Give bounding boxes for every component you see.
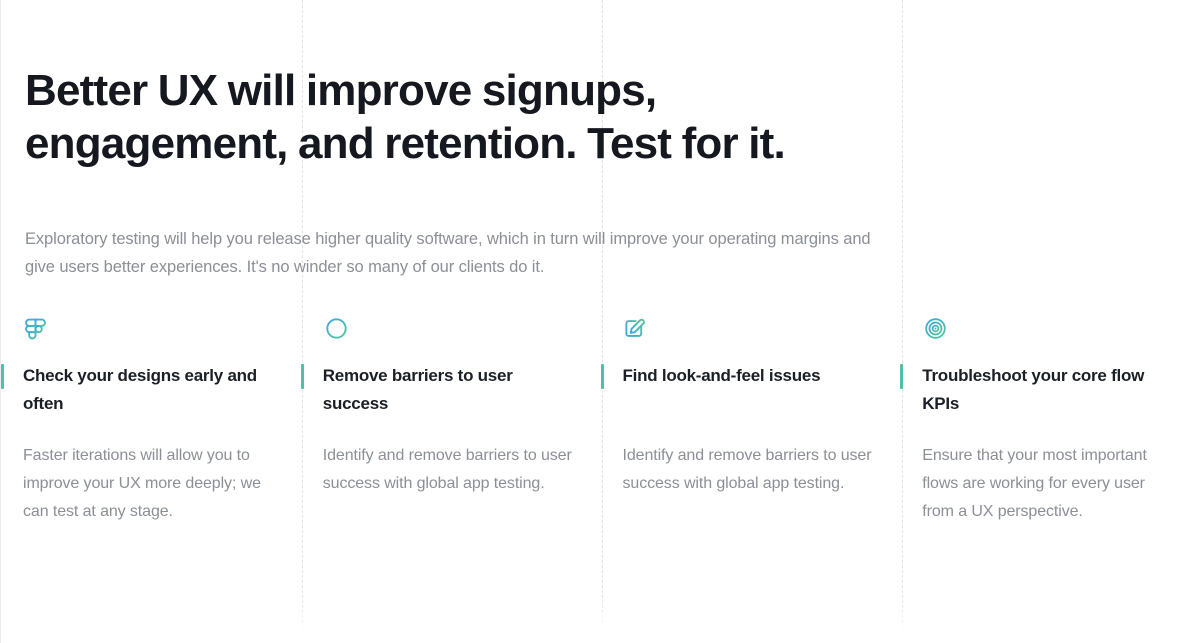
feature-heading-wrap-1: Check your designs early and often xyxy=(23,362,275,420)
page-title: Better UX will improve signups, engageme… xyxy=(25,64,905,170)
feature-body: Identify and remove barriers to user suc… xyxy=(623,442,875,498)
feature-heading-wrap-3: Find look-and-feel issues xyxy=(623,362,875,420)
alert-circle-icon xyxy=(323,318,575,362)
feature-column-4: Troubleshoot your core flow KPIs Ensure … xyxy=(900,318,1200,526)
hero-subtitle: Exploratory testing will help you releas… xyxy=(25,225,885,281)
accent-bar xyxy=(301,364,304,389)
feature-body: Identify and remove barriers to user suc… xyxy=(323,442,575,498)
feature-heading-wrap-2: Remove barriers to user success xyxy=(323,362,575,420)
feature-columns: Check your designs early and often Faste… xyxy=(1,318,1200,526)
divider-bottom-fade xyxy=(1,597,1200,643)
accent-bar xyxy=(900,364,903,389)
accent-bar xyxy=(601,364,604,389)
accent-bar xyxy=(1,364,4,389)
feature-heading-wrap-4: Troubleshoot your core flow KPIs xyxy=(922,362,1174,420)
feature-heading: Remove barriers to user success xyxy=(323,362,575,418)
feature-heading: Check your designs early and often xyxy=(23,362,275,418)
feature-column-2: Remove barriers to user success Identify… xyxy=(301,318,601,526)
page-root: Better UX will improve signups, engageme… xyxy=(0,0,1200,643)
feature-heading: Find look-and-feel issues xyxy=(623,362,875,390)
edit-square-icon xyxy=(623,318,875,362)
feature-heading: Troubleshoot your core flow KPIs xyxy=(922,362,1174,418)
feature-column-1: Check your designs early and often Faste… xyxy=(1,318,301,526)
target-icon xyxy=(922,318,1174,362)
feature-body: Ensure that your most important flows ar… xyxy=(922,442,1174,526)
figma-icon xyxy=(23,318,275,362)
feature-body: Faster iterations will allow you to impr… xyxy=(23,442,275,526)
hero-section: Better UX will improve signups, engageme… xyxy=(25,64,905,170)
feature-column-3: Find look-and-feel issues Identify and r… xyxy=(601,318,901,526)
